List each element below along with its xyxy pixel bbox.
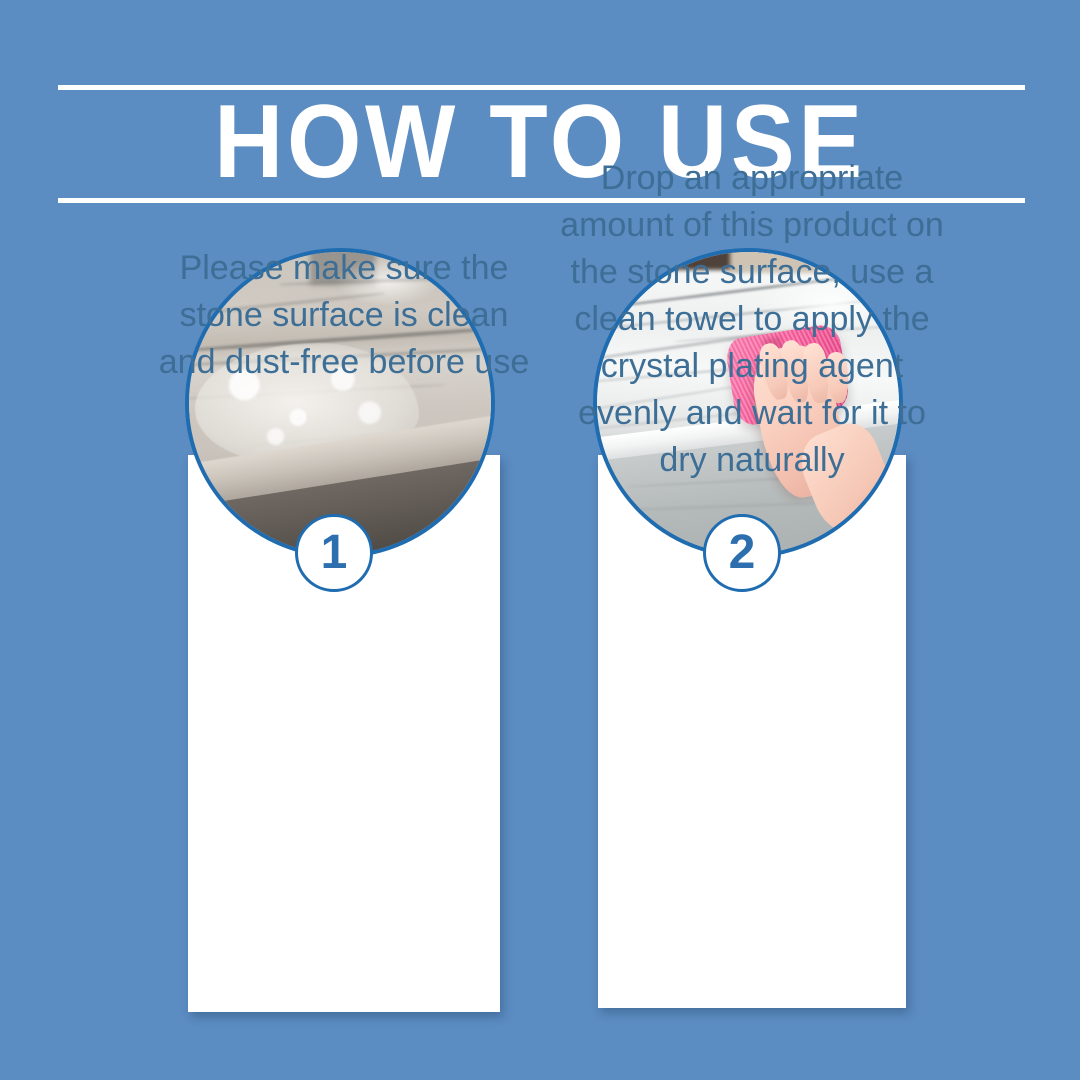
step-2-description: Drop an appropriate amount of this produ… [542, 155, 962, 484]
steps-container: 1 Please make sure the stone surface is … [0, 0, 1080, 1080]
step-card-1: 1 Please make sure the stone surface is … [134, 0, 554, 1080]
step-number-badge-1: 1 [295, 514, 373, 592]
poster-canvas: HOW TO USE [0, 0, 1080, 1080]
step-card-2: 2 Drop an appropriate amount of this pro… [542, 0, 962, 1080]
step-1-description: Please make sure the stone surface is cl… [134, 245, 554, 386]
step-number-badge-2: 2 [703, 514, 781, 592]
step-number-label: 2 [729, 529, 756, 577]
step-number-label: 1 [321, 529, 348, 577]
